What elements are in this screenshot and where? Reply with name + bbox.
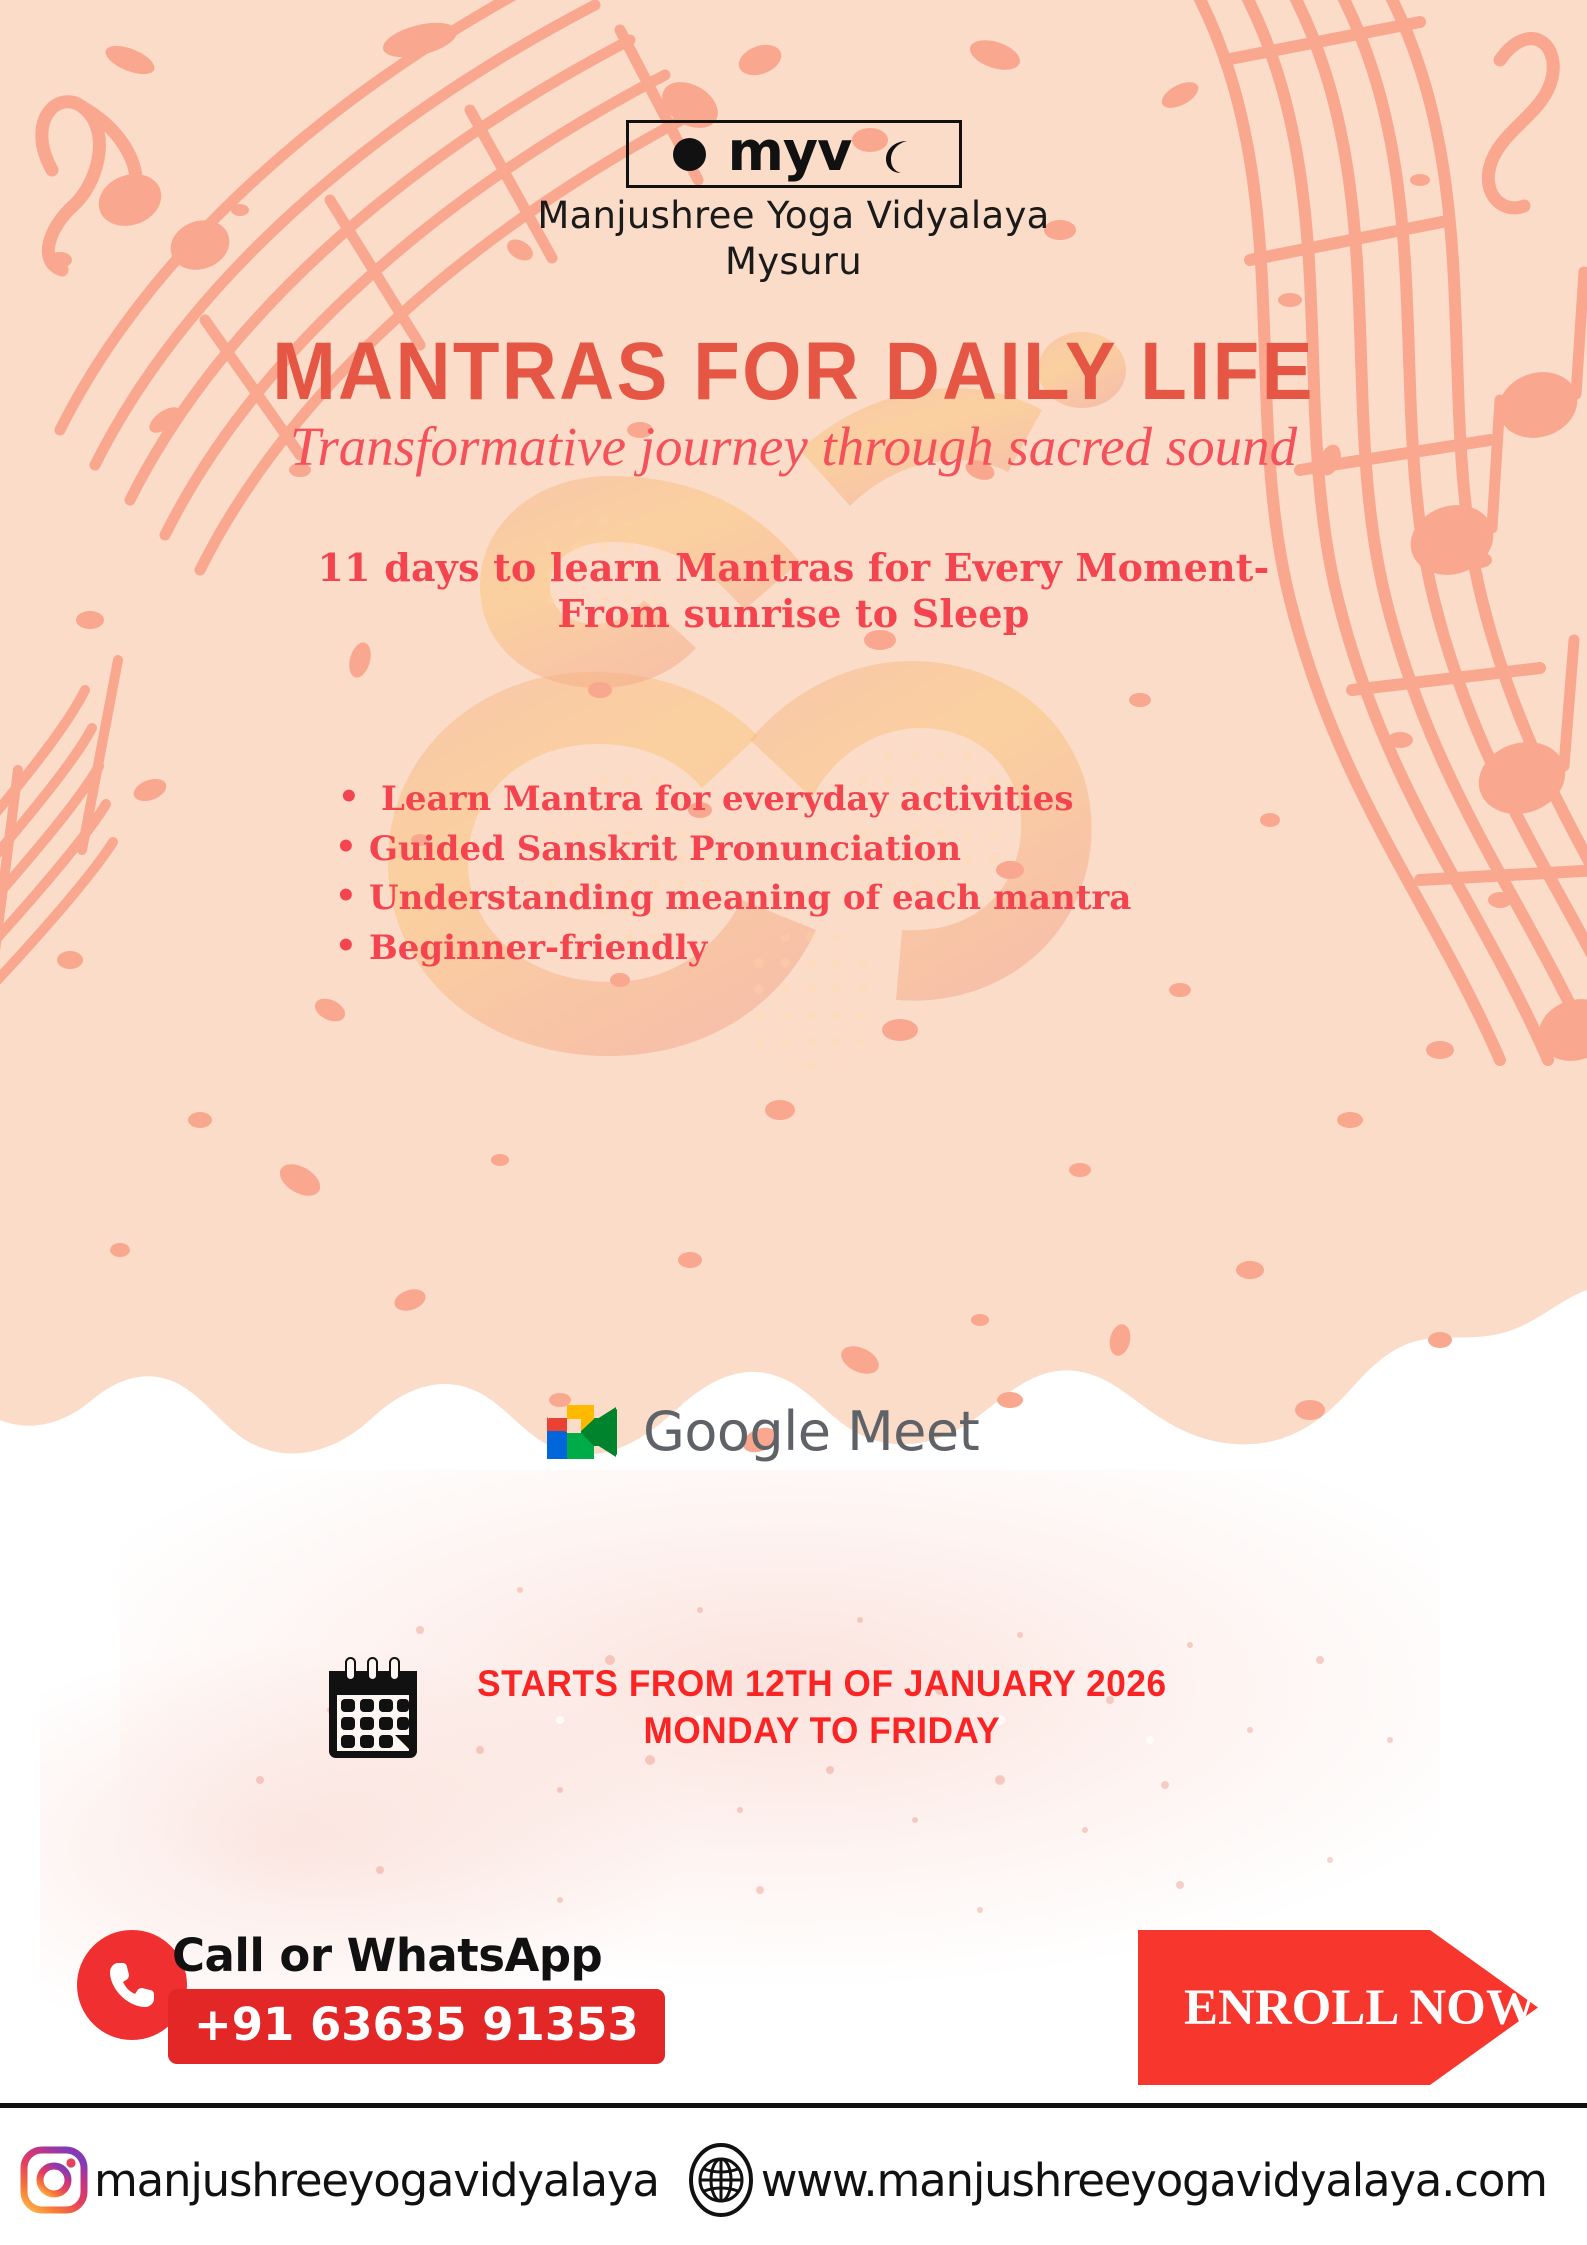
footer-bar: manjushreeyogavidyalaya www.manjushreeyo… [0,2125,1587,2235]
instagram-icon [18,2144,90,2216]
google-meet-icon [545,1401,619,1463]
crescent-moon-icon [873,133,915,175]
feature-list: Learn Mantra for everyday activities Gui… [335,778,1335,976]
globe-icon [685,2141,757,2219]
list-item: Beginner-friendly [335,927,1335,970]
dot-icon [673,138,706,171]
list-item: Understanding meaning of each mantra [335,877,1335,920]
promo-text: 11 days to learn Mantras for Every Momen… [0,545,1587,638]
list-item: Learn Mantra for everyday activities [335,778,1335,821]
list-item: Guided Sanskrit Pronunciation [335,828,1335,871]
poster-canvas: myv Manjushree Yoga Vidyalaya Mysuru MAN… [0,0,1587,2245]
promo-line-2: From sunrise to Sleep [0,591,1587,637]
schedule-line-1: STARTS FROM 12TH OF JANUARY 2026 [477,1660,1166,1707]
phone-number: +91 63635 91353 [194,1998,639,2051]
schedule-line-2: MONDAY TO FRIDAY [477,1707,1166,1754]
brand-logo: myv [626,120,962,188]
platform-name: Google Meet [643,1400,979,1463]
website-link[interactable]: www.manjushreeyogavidyalaya.com [685,2141,1547,2219]
phone-number-pill[interactable]: +91 63635 91353 [168,1989,665,2064]
page-subtitle: Transformative journey through sacred so… [0,415,1587,478]
page-title: MANTRAS FOR DAILY LIFE [56,325,1532,419]
schedule-text: STARTS FROM 12TH OF JANUARY 2026 MONDAY … [477,1660,1166,1755]
footer-divider [0,2103,1587,2108]
instagram-handle: manjushreeyogavidyalaya [94,2154,659,2207]
promo-line-1: 11 days to learn Mantras for Every Momen… [0,545,1587,591]
phone-icon [102,1955,162,2015]
logo-wordmark: myv [728,125,852,179]
enroll-now-label: ENROLL NOW [1138,1979,1537,2037]
organization-city: Mysuru [0,240,1587,283]
platform-badge: Google Meet [545,1400,979,1463]
website-url: www.manjushreeyogavidyalaya.com [761,2154,1547,2207]
organization-name: Manjushree Yoga Vidyalaya [0,195,1587,238]
enroll-now-button[interactable]: ENROLL NOW [1138,1930,1538,2085]
contact-label: Call or WhatsApp [172,1929,602,1982]
instagram-link[interactable]: manjushreeyogavidyalaya [18,2144,659,2216]
schedule-block: STARTS FROM 12TH OF JANUARY 2026 MONDAY … [325,1655,1185,1759]
calendar-icon [325,1655,421,1759]
